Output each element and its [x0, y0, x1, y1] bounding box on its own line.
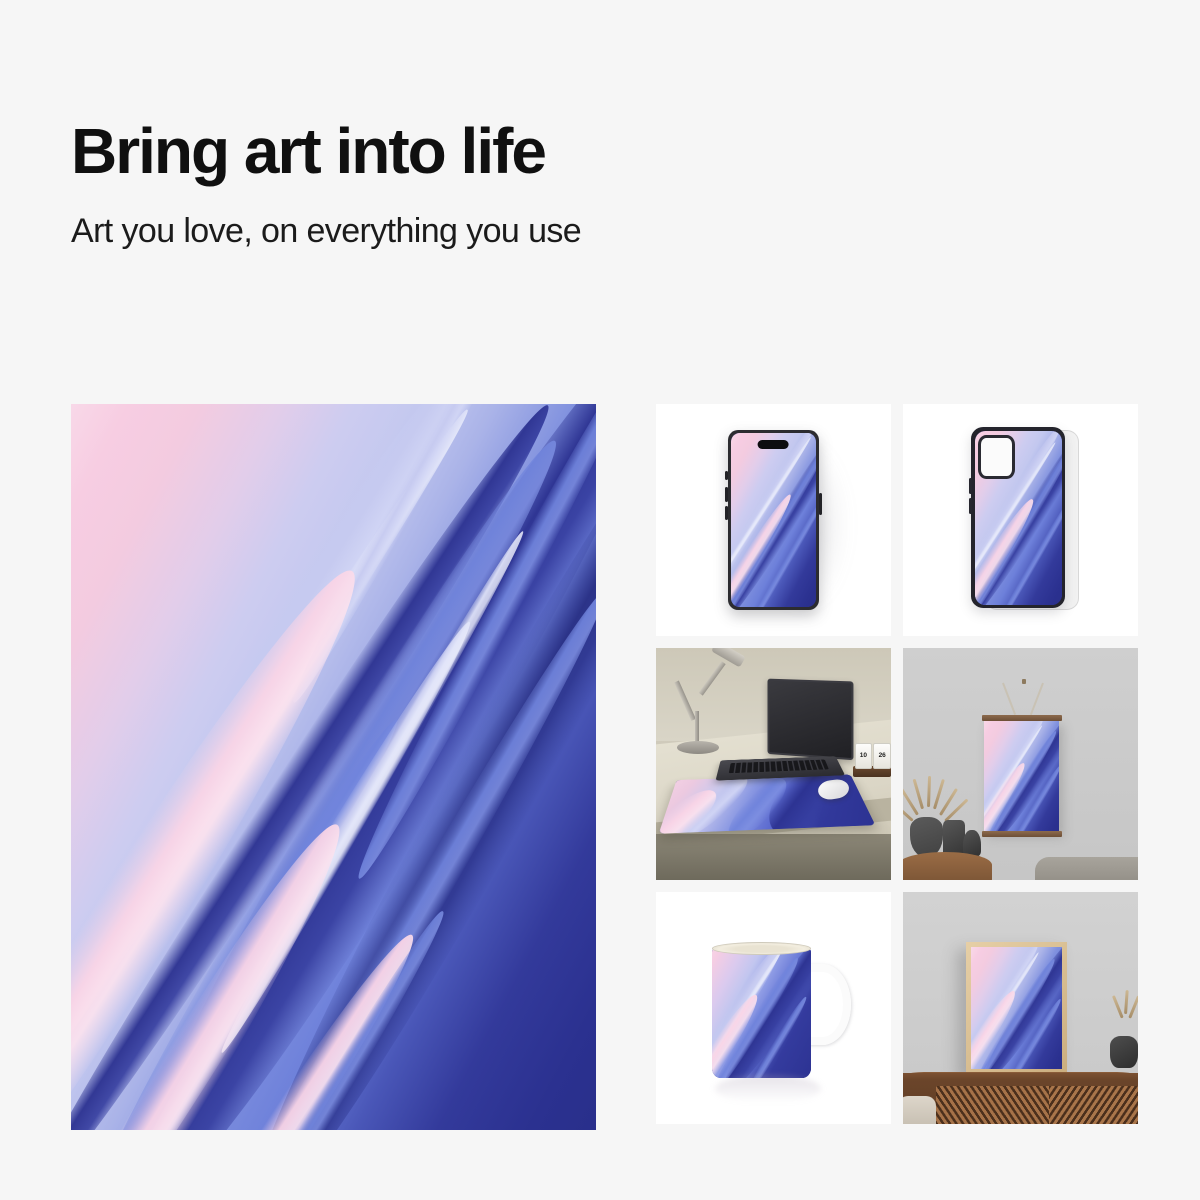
page-subtitle: Art you love, on everything you use: [71, 211, 971, 252]
case-volume-button-2: [969, 498, 972, 514]
desk-mat-mockup[interactable]: 10 26: [656, 648, 891, 880]
mug-reflection: [715, 1075, 821, 1103]
page-title: Bring art into life: [71, 118, 971, 185]
phone-mute-button: [725, 471, 728, 480]
case-volume-button: [969, 478, 972, 494]
armchair-corner: [903, 1096, 936, 1124]
lamp-base: [677, 741, 719, 754]
mug-rim: [712, 942, 811, 955]
phone-case-mockup[interactable]: [903, 404, 1138, 636]
phone-power-button: [819, 493, 822, 515]
canvas-rail-top: [982, 715, 1062, 721]
wall-hook-icon: [1022, 679, 1026, 684]
framed-print-mockup[interactable]: [903, 892, 1138, 1124]
dynamic-island-icon: [758, 440, 789, 449]
side-table: [903, 852, 992, 880]
dried-grass-decor: [1115, 985, 1139, 1041]
header: Bring art into life Art you love, on eve…: [71, 118, 971, 252]
phone-volume-down-button: [725, 506, 728, 520]
canvas-print: [984, 720, 1059, 832]
picture-frame: [966, 942, 1067, 1074]
artwork-streaks: [71, 404, 596, 1130]
laptop-screen: [768, 679, 854, 760]
canvas-rail-bottom: [982, 831, 1062, 837]
glass-vase: [910, 817, 943, 856]
hanging-canvas-mockup[interactable]: [903, 648, 1138, 880]
main-artwork-preview[interactable]: [71, 404, 596, 1130]
framed-artwork: [971, 947, 1062, 1069]
dark-vase: [1110, 1036, 1138, 1068]
calendar-month-card: 10: [855, 743, 873, 769]
mug-print: [712, 948, 811, 1078]
sideboard-slats-right: [1049, 1086, 1138, 1124]
phone-body: [728, 430, 820, 611]
calendar-day-card: 26: [873, 743, 891, 769]
sofa: [1035, 857, 1138, 880]
product-mockup-grid: 10 26: [656, 404, 1138, 1130]
artwork-canvas: [71, 404, 596, 1130]
mug-mockup[interactable]: [656, 892, 891, 1124]
phone-screen: [731, 433, 817, 608]
phone-mockup[interactable]: [656, 404, 891, 636]
phone-volume-up-button: [725, 487, 728, 501]
product-showcase-page: Bring art into life Art you love, on eve…: [0, 0, 1200, 1200]
camera-cutout-icon: [978, 435, 1016, 478]
phone-case-body: [971, 427, 1065, 608]
pampas-grass-decor: [903, 755, 969, 825]
desk-under-shadow: [656, 834, 891, 880]
phone-wallpaper-artwork: [731, 433, 817, 608]
laptop-keys: [729, 759, 829, 773]
